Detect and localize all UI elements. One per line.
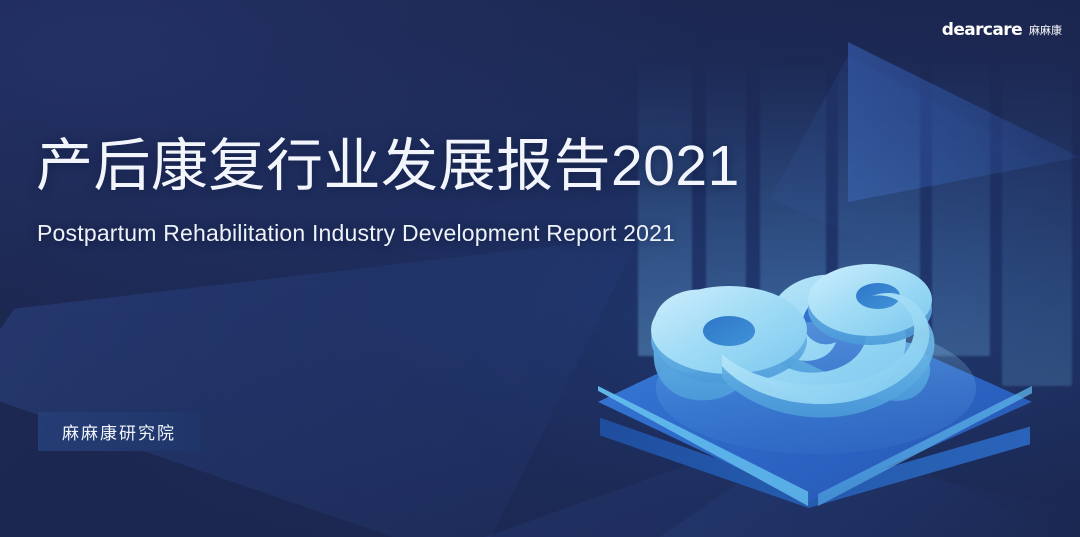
cover-text-block: 产后康复行业发展报告2021 Postpartum Rehabilitation…	[0, 0, 560, 537]
page-subtitle: Postpartum Rehabilitation Industry Devel…	[37, 220, 675, 247]
page-title: 产后康复行业发展报告2021	[36, 136, 740, 198]
cover-slide: dearcare 麻麻康 产后康复行业发展报告2021 Postpartum R…	[0, 0, 1080, 537]
publisher-badge: 麻麻康研究院	[38, 412, 200, 451]
brand-chinese-name: 麻麻康	[1029, 22, 1062, 39]
brand-wordmark: dearcare	[942, 20, 1022, 40]
brand-mark-3d	[626, 238, 1016, 468]
brand-logo: dearcare 麻麻康	[942, 20, 1062, 40]
